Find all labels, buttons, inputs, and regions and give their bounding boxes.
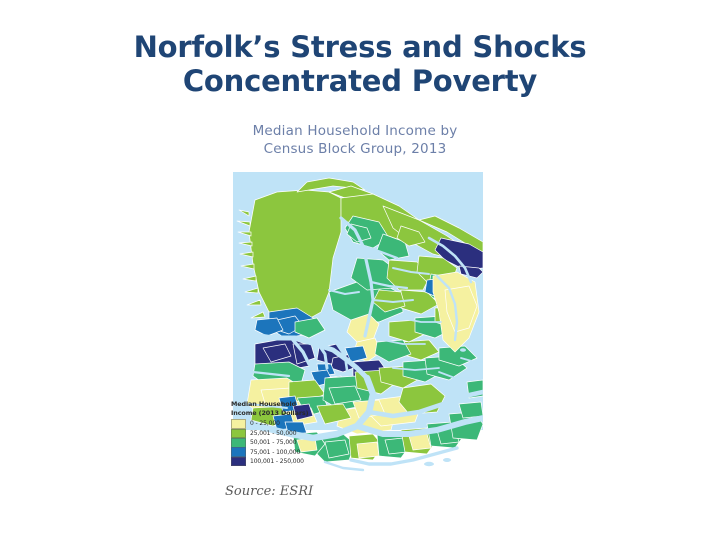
legend-row: 50,001 - 75,000 [231,438,331,447]
legend-title-line-1: Median Household [231,400,331,409]
legend-label-2: 50,001 - 75,000 [250,439,296,446]
legend-rows: 0 - 25,000 25,001 - 50,000 50,001 - 75,0… [231,419,331,466]
legend-swatch-3 [231,447,246,457]
title-line-1: Norfolk’s Stress and Shocks [0,30,720,64]
map-figure: Median Household Income by Census Block … [205,122,505,517]
title-line-2: Concentrated Poverty [0,64,720,98]
map-legend: Median Household Income (2013 Dollars) 0… [231,400,331,466]
legend-row: 25,001 - 50,000 [231,429,331,438]
legend-label-0: 0 - 25,000 [250,420,280,427]
legend-row: 100,001 - 250,000 [231,457,331,466]
map-subtitle-line-1: Median Household Income by [205,122,505,140]
legend-row: 75,001 - 100,000 [231,447,331,456]
legend-label-3: 75,001 - 100,000 [250,449,300,456]
legend-label-1: 25,001 - 50,000 [250,430,296,437]
source-caption: Source: ESRI [225,484,313,499]
legend-title: Median Household Income (2013 Dollars) [231,400,331,417]
legend-swatch-1 [231,429,246,439]
slide-canvas: Norfolk’s Stress and Shocks Concentrated… [0,0,720,540]
legend-swatch-4 [231,457,246,467]
legend-row: 0 - 25,000 [231,419,331,428]
map-subtitle: Median Household Income by Census Block … [205,122,505,158]
legend-title-line-2: Income (2013 Dollars) [231,409,331,418]
page-title: Norfolk’s Stress and Shocks Concentrated… [0,30,720,98]
legend-label-4: 100,001 - 250,000 [250,458,304,465]
legend-swatch-0 [231,419,246,429]
map-subtitle-line-2: Census Block Group, 2013 [205,140,505,158]
legend-swatch-2 [231,438,246,448]
